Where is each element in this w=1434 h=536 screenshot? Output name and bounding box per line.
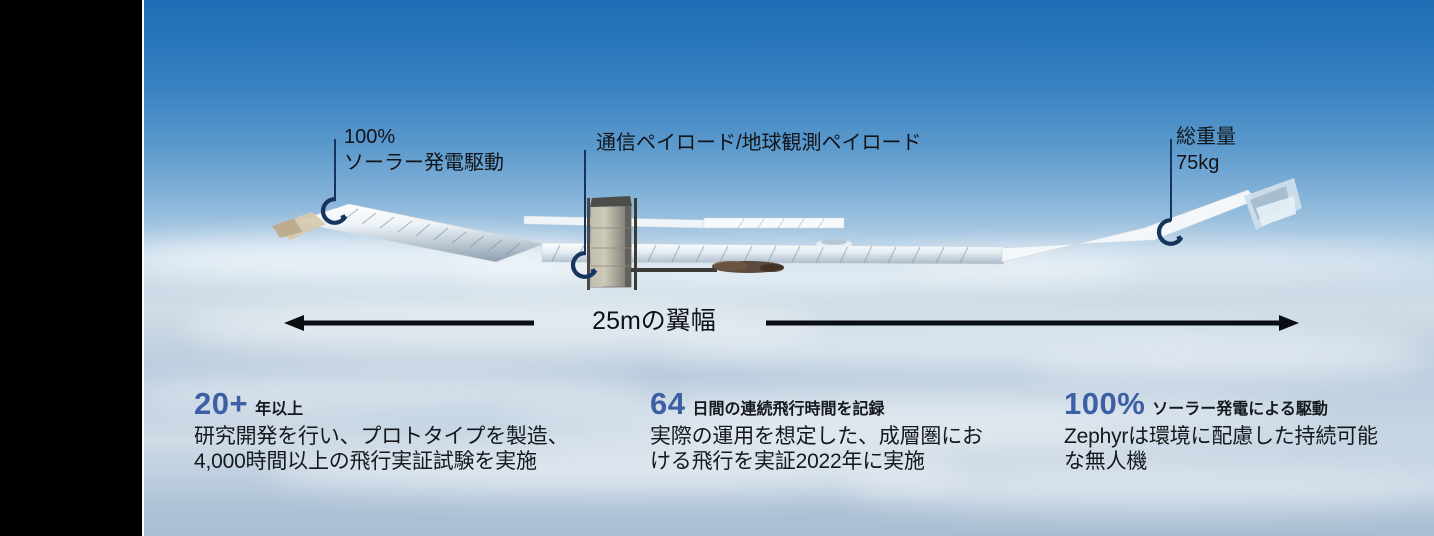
callout-weight-line-1: 総重量 [1176,124,1236,150]
wingspan-label: 25mの翼幅 [544,306,764,336]
stat-block-days: 64日間の連続飛行時間を記録 実際の運用を想定した、成層圏にお ける飛行を実証2… [650,388,1020,474]
stat-days-number: 64 [650,386,685,421]
callout-ring-marker-weight[interactable] [1156,217,1186,247]
stat-solar-head: 100%ソーラー発電による駆動 [1064,388,1434,419]
callout-payload-line-1: 通信ペイロード/地球観測ペイロード [596,130,922,156]
left-black-bar [0,0,142,536]
stat-years-body: 研究開発を行い、プロトタイプを製造、 4,000時間以上の飛行実証試験を実施 [194,424,614,474]
callout-text-payload: 通信ペイロード/地球観測ペイロード [596,130,922,156]
stat-block-solar: 100%ソーラー発電による駆動 Zephyrは環境に配慮した持続可能 な無人機 [1064,388,1434,474]
callout-ring-marker-solar[interactable] [320,196,350,226]
callout-ring-marker-payload[interactable] [570,250,600,280]
callout-leader-line-solar [334,139,336,201]
callout-solar-line-1: 100% [344,124,504,150]
callout-weight-line-2: 75kg [1176,150,1236,176]
stat-years-unit: 年以上 [255,401,303,418]
callout-text-weight: 総重量 75kg [1176,124,1236,176]
wingspan-dimension-arrow [284,308,1299,344]
stat-days-head: 64日間の連続飛行時間を記録 [650,388,1020,419]
hero-photo: 100% ソーラー発電駆動 通信ペイロード/地球観測ペイロード 総重量 75kg [144,0,1434,536]
callout-solar-line-2: ソーラー発電駆動 [344,150,504,176]
callout-leader-line-weight [1170,139,1172,221]
callout-leader-line-payload [584,150,586,255]
stat-solar-number: 100% [1064,386,1145,421]
stat-solar-unit: ソーラー発電による駆動 [1152,401,1328,418]
callout-text-solar: 100% ソーラー発電駆動 [344,124,504,176]
stat-solar-body: Zephyrは環境に配慮した持続可能 な無人機 [1064,424,1434,474]
stat-days-unit: 日間の連続飛行時間を記録 [692,401,884,418]
slide-root: 100% ソーラー発電駆動 通信ペイロード/地球観測ペイロード 総重量 75kg [0,0,1434,536]
stat-years-head: 20+年以上 [194,388,614,419]
stat-years-number: 20+ [194,386,248,421]
stat-block-years: 20+年以上 研究開発を行い、プロトタイプを製造、 4,000時間以上の飛行実証… [194,388,614,474]
stat-days-body: 実際の運用を想定した、成層圏にお ける飛行を実証2022年に実施 [650,424,1020,474]
